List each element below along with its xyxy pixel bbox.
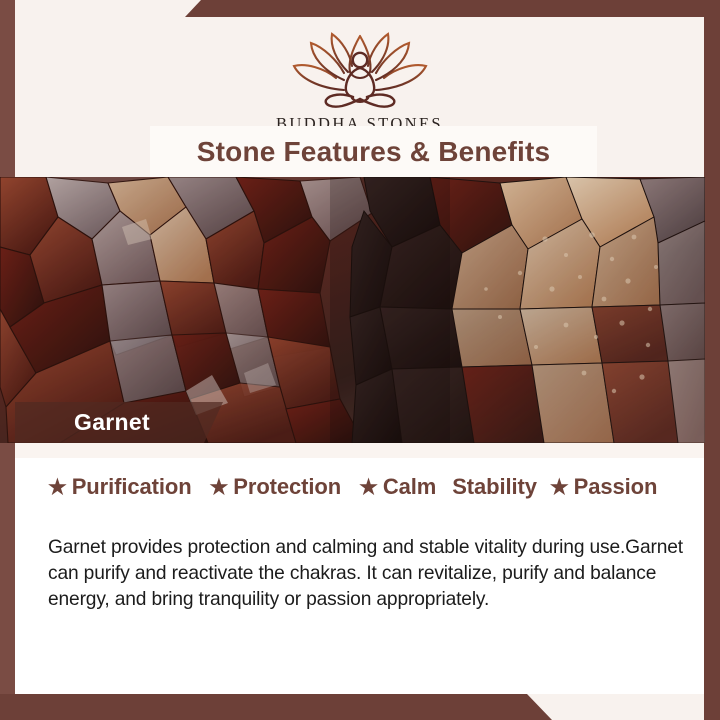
frame-bottom-band: [0, 694, 720, 720]
feature-label: Purification: [72, 474, 192, 500]
star-icon: ★: [210, 477, 229, 498]
section-title-banner: Stone Features & Benefits: [150, 126, 597, 177]
star-icon: ★: [48, 477, 67, 498]
features-row: ★ Purification ★ Protection ★ Calm Stabi…: [48, 474, 686, 500]
feature-stability: Stability: [452, 474, 537, 500]
feature-label: Protection: [233, 474, 341, 500]
feature-passion: ★ Passion: [550, 474, 657, 500]
page-title: Stone Features & Benefits: [197, 136, 551, 168]
content-panel: ★ Purification ★ Protection ★ Calm Stabi…: [15, 458, 704, 694]
star-icon: ★: [359, 477, 378, 498]
stone-features-poster: BUDDHA STONES Stone Features & Benefits: [0, 0, 720, 720]
brand-logo: BUDDHA STONES: [15, 30, 704, 134]
frame-top-band: [0, 0, 720, 17]
stone-description: Garnet provides protection and calming a…: [48, 535, 691, 613]
star-icon: ★: [550, 477, 569, 498]
feature-label: Stability: [452, 474, 537, 500]
feature-label: Passion: [574, 474, 658, 500]
stone-name: Garnet: [74, 409, 150, 436]
feature-calm: ★ Calm: [359, 474, 436, 500]
feature-label: Calm: [383, 474, 436, 500]
feature-purification: ★ Purification: [48, 474, 192, 500]
photo-bottom-strip: [15, 443, 704, 458]
feature-protection: ★ Protection: [210, 474, 342, 500]
frame-right-band: [704, 0, 720, 720]
lotus-meditation-icon: [284, 30, 436, 110]
